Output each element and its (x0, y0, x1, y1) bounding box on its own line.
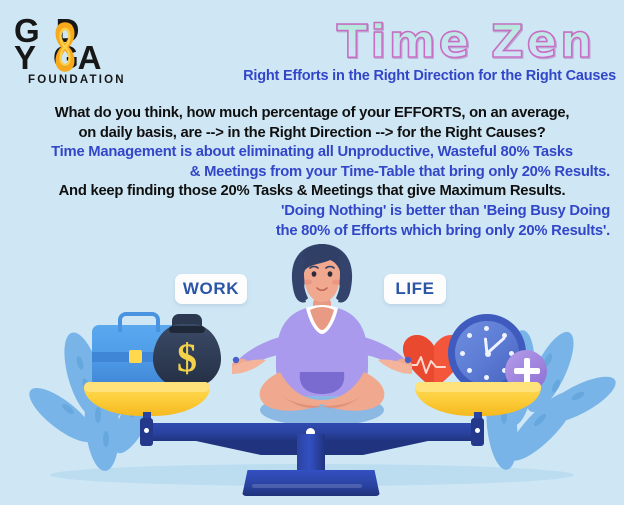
scale-base-highlight (252, 484, 362, 488)
meditating-woman-illustration (232, 244, 412, 430)
briefcase-handle-icon (118, 312, 160, 332)
dollar-sign-icon: $ (153, 334, 221, 382)
title-block: Time Zen (316, 14, 616, 70)
scale-pan-right (415, 382, 541, 418)
message-line: 'Doing Nothing' is better than 'Being Bu… (14, 202, 610, 222)
illustration-scene: WORK LIFE $ (0, 238, 624, 505)
message-line: Time Management is about eliminating all… (14, 143, 610, 163)
message-block: What do you think, how much percentage o… (14, 104, 610, 241)
message-line: And keep finding those 20% Tasks & Meeti… (14, 182, 610, 202)
poster-canvas: GD YGA FOUNDATION Time Zen Right Efforts… (0, 0, 624, 505)
briefcase-lock-icon (129, 350, 142, 363)
page-subtitle: Right Efforts in the Right Direction for… (0, 68, 616, 84)
message-line: & Meetings from your Time-Table that bri… (14, 163, 610, 183)
scale-base (242, 470, 380, 496)
scale-pivot-dot-right (475, 428, 480, 433)
message-line: What do you think, how much percentage o… (14, 104, 610, 124)
money-bag-tie (169, 326, 205, 333)
pan-rim-left (84, 382, 210, 392)
scale-pan-left (84, 382, 210, 418)
pan-rim-right (415, 382, 541, 392)
scale-pivot-dot-left (144, 428, 149, 433)
message-line: on daily basis, are --> in the Right Dir… (14, 124, 610, 144)
page-title: Time Zen (316, 14, 616, 70)
label-work-text: WORK (183, 279, 239, 299)
plus-horizontal-bar (514, 368, 540, 374)
